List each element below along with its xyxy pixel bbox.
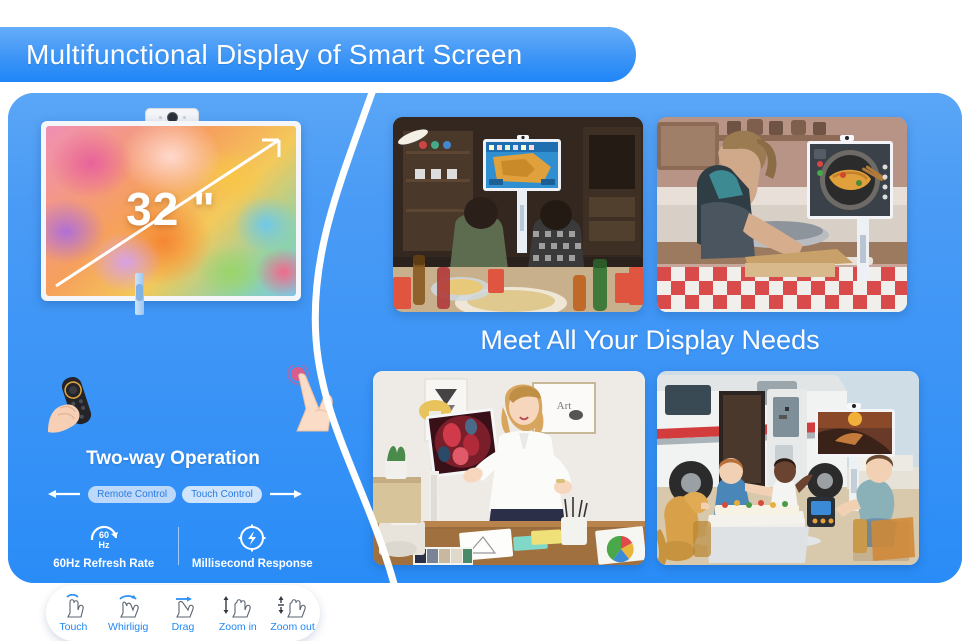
lightning-response-icon [179,523,327,553]
hand-zoom-out-icon [267,594,319,620]
webcam-dot-right [183,116,186,119]
header-title-bar: Multifunctional Display of Smart Screen [0,27,636,82]
gesture-zoom-out-label: Zoom out [267,621,319,633]
svg-text:Hz: Hz [98,540,109,550]
spec-refresh-rate: 60 Hz 60Hz Refresh Rate [30,523,178,570]
monitor-screen: 32 " [46,126,296,296]
monitor-stand [135,273,144,315]
photo-rv-camping [657,371,919,565]
touch-hand-icon [282,365,342,435]
svg-text:60: 60 [99,530,109,540]
hand-tap-icon [47,594,99,620]
hand-rotate-icon [102,594,154,620]
gesture-whirligig[interactable]: Whirligig [102,594,154,633]
right-panel-heading: Meet All Your Display Needs [338,325,962,356]
gesture-drag-label: Drag [157,621,209,633]
right-usecase-column: Meet All Your Display Needs Art [338,93,962,583]
two-way-operation-heading: Two-way Operation [8,448,338,470]
spec-response-time-label: Millisecond Response [179,558,327,570]
arrow-right-icon [268,488,304,500]
page-title: Multifunctional Display of Smart Screen [26,39,522,71]
control-modes-row: Remote Control Touch Control [30,483,320,505]
remote-control-icon [44,374,114,436]
photo-gaming-living-room [393,117,643,312]
gesture-zoom-in-label: Zoom in [212,621,264,633]
arrow-left-icon [46,488,82,500]
gesture-touch-label: Touch [47,621,99,633]
hand-zoom-in-icon [212,594,264,620]
webcam-dot-left [159,116,162,119]
gesture-zoom-out[interactable]: Zoom out [267,594,319,633]
mode-pill-touch-control[interactable]: Touch Control [182,486,262,503]
gesture-zoom-in[interactable]: Zoom in [212,594,264,633]
hand-drag-icon [157,594,209,620]
left-feature-column: 32 " [8,93,338,583]
refresh-rate-icon: 60 Hz [30,523,178,553]
monitor-bezel: 32 " [41,121,301,301]
mode-pill-remote-control[interactable]: Remote Control [88,486,176,503]
specs-row: 60 Hz 60Hz Refresh Rate [30,517,326,575]
smart-screen-monitor: 32 " [41,121,301,301]
spec-response-time: Millisecond Response [179,523,327,570]
diagonal-arrow-icon [46,126,296,296]
svg-text:Art: Art [557,400,572,412]
gesture-bar: Touch Whirligig [46,585,320,641]
gesture-touch[interactable]: Touch [47,594,99,633]
promo-banner: Multifunctional Display of Smart Screen … [0,0,970,600]
gesture-drag[interactable]: Drag [157,594,209,633]
photo-office-presentation: Art [373,371,645,565]
gesture-whirligig-label: Whirligig [102,621,154,633]
photo-kitchen-cooking [657,117,907,312]
spec-refresh-rate-label: 60Hz Refresh Rate [30,558,178,570]
